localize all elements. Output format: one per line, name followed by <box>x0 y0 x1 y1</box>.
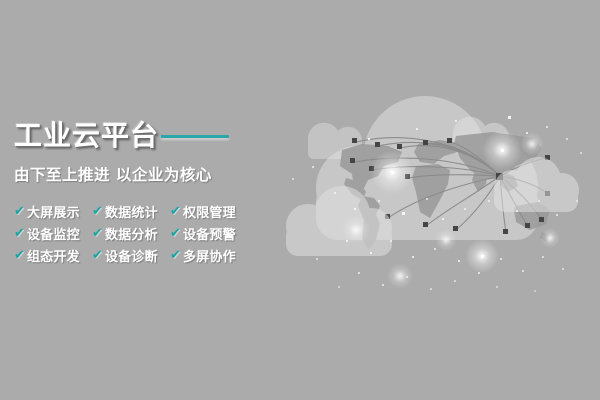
feature-label: 设备监控 <box>27 224 80 243</box>
feature-item: ✔ 多屏协作 <box>170 246 254 265</box>
banner-text-block: 工业云平台 由下至上推进 以企业为核心 ✔ 大屏展示 ✔ 数据统计 ✔ 权限管理 <box>14 118 254 267</box>
feature-item: ✔ 设备监控 <box>14 224 92 243</box>
feature-item: ✔ 大屏展示 <box>14 202 92 221</box>
check-icon: ✔ <box>92 249 104 263</box>
feature-item: ✔ 设备预警 <box>170 224 254 243</box>
horizontal-rule-icon <box>161 135 229 138</box>
page-title: 工业云平台 <box>14 122 159 150</box>
feature-list: ✔ 大屏展示 ✔ 数据统计 ✔ 权限管理 ✔ 设备监控 ✔ <box>14 201 254 266</box>
feature-row: ✔ 大屏展示 ✔ 数据统计 ✔ 权限管理 <box>14 201 254 222</box>
feature-label: 设备预警 <box>183 224 236 243</box>
banner-root: 工业云平台 由下至上推进 以企业为核心 ✔ 大屏展示 ✔ 数据统计 ✔ 权限管理 <box>0 0 600 400</box>
check-icon: ✔ <box>170 227 182 241</box>
check-icon: ✔ <box>170 205 182 219</box>
feature-item: ✔ 数据分析 <box>92 224 170 243</box>
feature-item: ✔ 设备诊断 <box>92 246 170 265</box>
feature-label: 数据分析 <box>105 224 158 243</box>
feature-label: 设备诊断 <box>105 246 158 265</box>
feature-item: ✔ 权限管理 <box>170 202 254 221</box>
title-row: 工业云平台 <box>14 118 254 154</box>
feature-item: ✔ 数据统计 <box>92 202 170 221</box>
check-icon: ✔ <box>170 249 182 263</box>
feature-label: 多屏协作 <box>183 246 236 265</box>
feature-row: ✔ 组态开发 ✔ 设备诊断 ✔ 多屏协作 <box>14 245 254 266</box>
feature-item: ✔ 组态开发 <box>14 246 92 265</box>
feature-row: ✔ 设备监控 ✔ 数据分析 ✔ 设备预警 <box>14 223 254 244</box>
page-subtitle: 由下至上推进 以企业为核心 <box>14 163 254 185</box>
feature-label: 数据统计 <box>105 202 158 221</box>
feature-label: 权限管理 <box>183 202 236 221</box>
check-icon: ✔ <box>14 249 26 263</box>
feature-label: 大屏展示 <box>27 202 80 221</box>
check-icon: ✔ <box>92 205 104 219</box>
cloud-world-network-graphic <box>250 80 600 320</box>
check-icon: ✔ <box>92 227 104 241</box>
check-icon: ✔ <box>14 205 26 219</box>
check-icon: ✔ <box>14 227 26 241</box>
feature-label: 组态开发 <box>27 246 80 265</box>
